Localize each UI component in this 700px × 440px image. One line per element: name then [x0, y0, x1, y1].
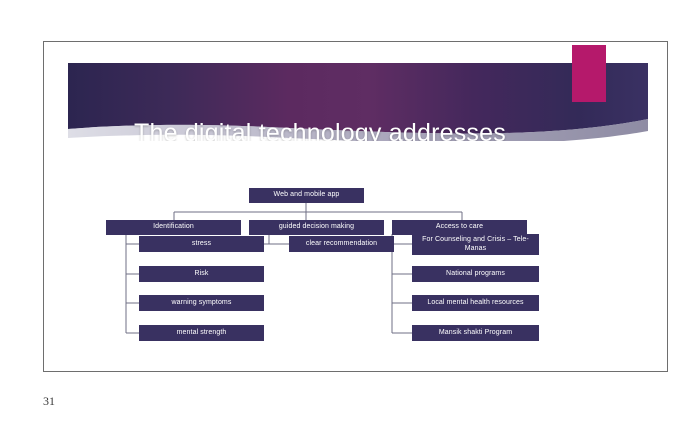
node-leaf-warning-symptoms[interactable]: warning symptoms	[139, 295, 264, 311]
node-branch-guided-decision-making[interactable]: guided decision making	[249, 220, 384, 235]
node-label: Local mental health resources	[427, 299, 523, 308]
node-label: For Counseling and Crisis – Tele-Manas	[415, 236, 536, 254]
node-leaf-mansik-shakti-program[interactable]: Mansik shakti Program	[412, 325, 539, 341]
node-label: Identification	[153, 223, 194, 232]
hierarchy-diagram: Web and mobile app Identification guided…	[44, 42, 668, 372]
node-label: Risk	[194, 270, 208, 279]
node-label: mental strength	[177, 329, 227, 338]
node-leaf-stress[interactable]: stress	[139, 236, 264, 252]
node-label: stress	[192, 240, 211, 249]
node-leaf-clear-recommendation[interactable]: clear recommendation	[289, 236, 394, 252]
node-branch-identification[interactable]: Identification	[106, 220, 241, 235]
node-root[interactable]: Web and mobile app	[249, 188, 364, 203]
node-label: Mansik shakti Program	[439, 329, 512, 338]
node-leaf-risk[interactable]: Risk	[139, 266, 264, 282]
node-leaf-local-mental-health-resources[interactable]: Local mental health resources	[412, 295, 539, 311]
connector-lines	[44, 42, 668, 372]
node-branch-access-to-care[interactable]: Access to care	[392, 220, 527, 235]
slide-canvas: The digital technology addresses	[43, 41, 668, 372]
node-label: clear recommendation	[306, 240, 377, 249]
node-leaf-mental-strength[interactable]: mental strength	[139, 325, 264, 341]
node-label: Access to care	[436, 223, 483, 232]
node-label: warning symptoms	[172, 299, 232, 308]
node-label: Web and mobile app	[274, 191, 340, 200]
node-label: National programs	[446, 270, 505, 279]
page-number: 31	[43, 394, 55, 409]
node-leaf-national-programs[interactable]: National programs	[412, 266, 539, 282]
node-leaf-tele-manas[interactable]: For Counseling and Crisis – Tele-Manas	[412, 234, 539, 255]
node-label: guided decision making	[279, 223, 354, 232]
